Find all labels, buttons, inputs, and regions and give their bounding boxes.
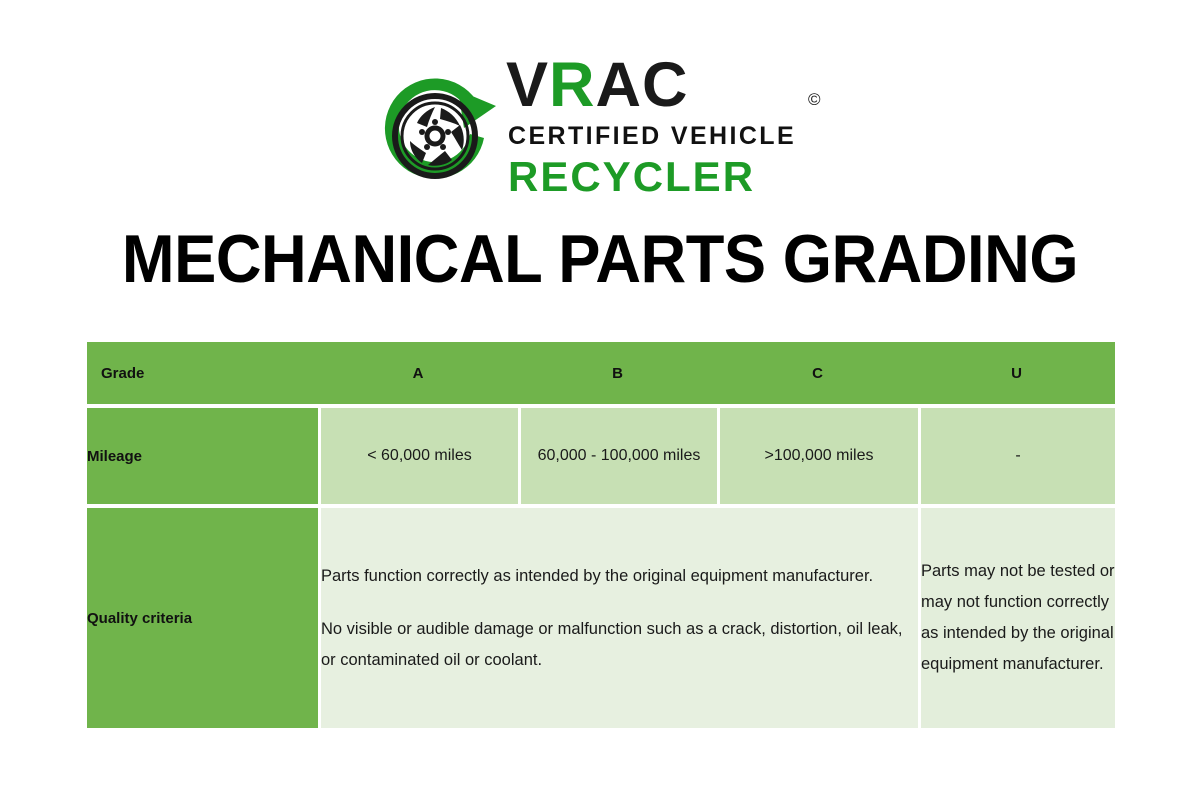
table-row-quality-criteria: Quality criteria Parts function correctl… [87, 504, 1115, 728]
brand-letter-a: A [596, 50, 643, 120]
logo-wordmark: VRAC © CERTIFIED VEHICLE RECYCLER [506, 52, 842, 202]
mileage-grade-a: < 60,000 miles [318, 404, 518, 504]
brand-name: VRAC © [506, 54, 689, 117]
copyright-icon: © [808, 68, 822, 131]
header-grade-label: Grade [87, 342, 318, 404]
table-row-mileage: Mileage < 60,000 miles 60,000 - 100,000 … [87, 404, 1115, 504]
logo-tagline: CERTIFIED VEHICLE [508, 124, 796, 149]
header-grade-a: A [318, 342, 518, 404]
mileage-grade-u: - [918, 404, 1115, 504]
header-grade-u: U [918, 342, 1115, 404]
table-header-row: Grade A B C U [87, 342, 1115, 404]
header-grade-c: C [717, 342, 918, 404]
header-grade-b: B [518, 342, 717, 404]
quality-criteria-abc: Parts function correctly as intended by … [318, 504, 918, 728]
quality-paragraph-1: Parts function correctly as intended by … [321, 561, 918, 592]
row-label-quality-criteria: Quality criteria [87, 504, 318, 728]
brand-letter-v: V [506, 50, 549, 120]
brand-letter-r: R [549, 50, 596, 120]
quality-u-paragraph: Parts may not be tested or may not funct… [921, 556, 1115, 680]
page-root: VRAC © CERTIFIED VEHICLE RECYCLER MECHAN… [0, 0, 1200, 800]
logo-subbrand: RECYCLER [508, 156, 755, 198]
quality-paragraph-2: No visible or audible damage or malfunct… [321, 614, 918, 676]
vrac-logo: VRAC © CERTIFIED VEHICLE RECYCLER [372, 52, 842, 202]
row-label-mileage: Mileage [87, 404, 318, 504]
quality-criteria-u: Parts may not be tested or may not funct… [918, 504, 1115, 728]
recycle-wheel-icon [372, 66, 506, 192]
mileage-grade-c: >100,000 miles [717, 404, 918, 504]
mechanical-parts-grading-table: Grade A B C U Mileage < 60,000 miles 60,… [87, 342, 1115, 728]
mileage-grade-b: 60,000 - 100,000 miles [518, 404, 717, 504]
page-title: MECHANICAL PARTS GRADING [42, 222, 1158, 296]
brand-letter-c: C [642, 50, 689, 120]
